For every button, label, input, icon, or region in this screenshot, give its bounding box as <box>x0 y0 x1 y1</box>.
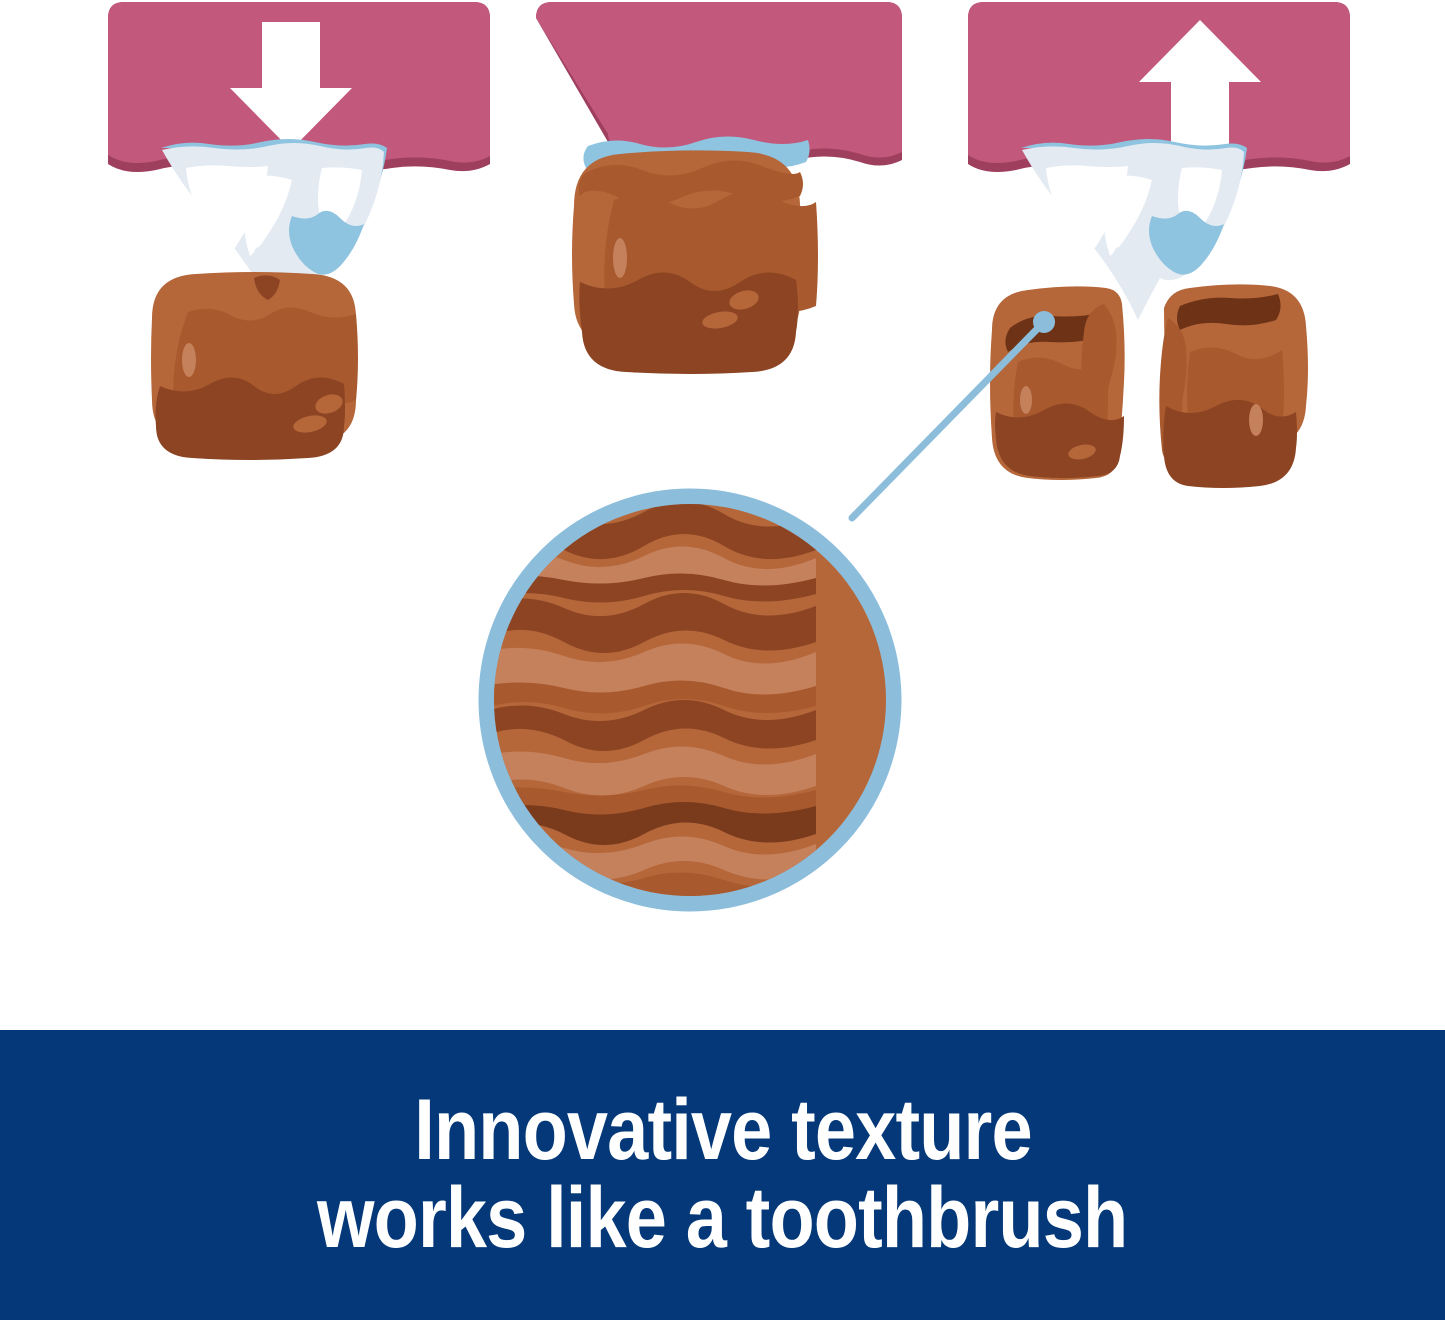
caption-banner: Innovative texture works like a toothbru… <box>0 1030 1445 1320</box>
gum-block <box>536 2 902 158</box>
kibble-speck <box>182 343 196 377</box>
dental-kibble-diagram-svg <box>0 0 1445 1030</box>
caption-line-2: works like a toothbrush <box>317 1175 1127 1263</box>
panel-bite-down <box>108 2 490 460</box>
texture-magnifier <box>484 494 896 910</box>
illustration-area <box>0 0 1445 1030</box>
panel-release <box>852 2 1350 518</box>
kibble-speck <box>1020 386 1032 414</box>
callout-dot <box>1033 311 1055 333</box>
poster-root: Innovative texture works like a toothbru… <box>0 0 1445 1320</box>
panel-penetrate <box>536 2 902 374</box>
kibble-speck <box>613 238 627 278</box>
kibble-speck <box>1249 404 1263 436</box>
caption-line-1: Innovative texture <box>414 1087 1031 1175</box>
gum-block <box>968 2 1350 163</box>
